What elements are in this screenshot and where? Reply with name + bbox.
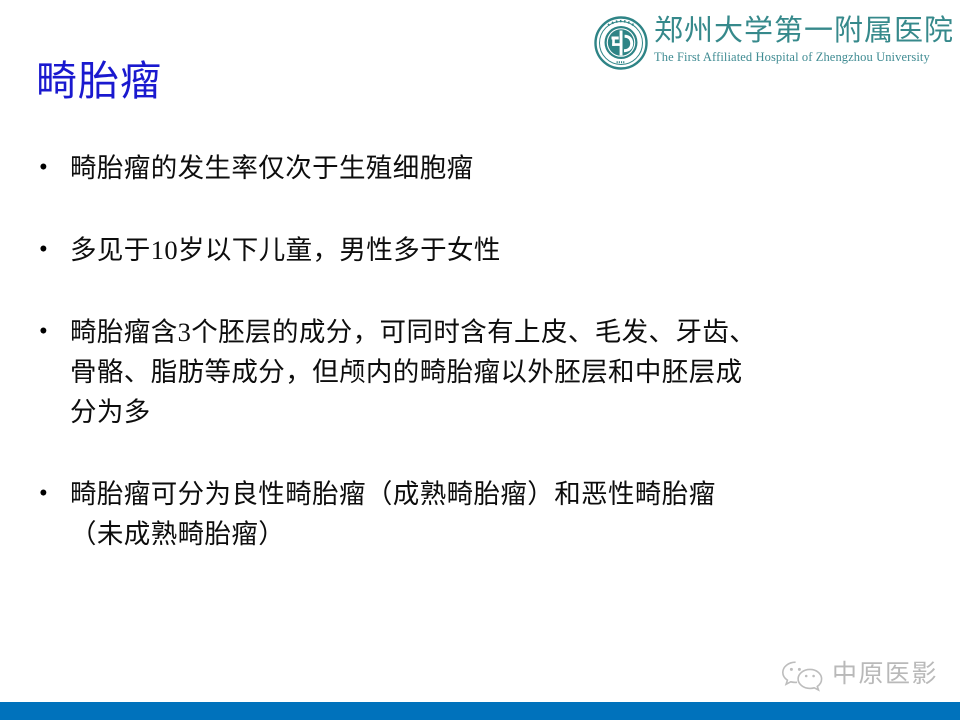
list-item: • 多见于10岁以下儿童，男性多于女性 <box>30 230 920 270</box>
list-item: • 畸胎瘤含3个胚层的成分，可同时含有上皮、毛发、牙齿、 骨骼、脂肪等成分，但颅… <box>30 312 920 432</box>
hospital-name-cn: 郑州大学第一附属医院 <box>654 14 954 48</box>
list-item: • 畸胎瘤可分为良性畸胎瘤（成熟畸胎瘤）和恶性畸胎瘤 （未成熟畸胎瘤） <box>30 474 920 554</box>
list-item-text: 多见于10岁以下儿童，男性多于女性 <box>70 230 920 270</box>
watermark-label: 中原医影 <box>832 660 938 690</box>
wechat-icon <box>780 658 826 692</box>
footer-accent-bar <box>0 702 960 720</box>
hospital-name-en: The First Affiliated Hospital of Zhengzh… <box>654 49 930 65</box>
list-item-text: 畸胎瘤可分为良性畸胎瘤（成熟畸胎瘤）和恶性畸胎瘤 （未成熟畸胎瘤） <box>70 474 920 554</box>
page-title: 畸胎瘤 <box>36 57 162 105</box>
list-item: • 畸胎瘤的发生率仅次于生殖细胞瘤 <box>30 148 920 188</box>
bullet-list: • 畸胎瘤的发生率仅次于生殖细胞瘤 • 多见于10岁以下儿童，男性多于女性 • … <box>30 148 920 554</box>
watermark: 中原医影 <box>780 658 938 692</box>
presentation-slide: 郑州大学第一附属医院 The First Affiliated Hospital… <box>0 0 960 720</box>
hospital-brand: 郑州大学第一附属医院 The First Affiliated Hospital… <box>594 12 954 80</box>
list-item-text: 畸胎瘤含3个胚层的成分，可同时含有上皮、毛发、牙齿、 骨骼、脂肪等成分，但颅内的… <box>70 312 920 432</box>
list-item-text: 畸胎瘤的发生率仅次于生殖细胞瘤 <box>70 148 920 188</box>
hospital-seal-icon <box>594 16 648 70</box>
bullet-marker-icon: • <box>30 312 70 352</box>
bullet-marker-icon: • <box>30 148 70 188</box>
bullet-marker-icon: • <box>30 474 70 514</box>
hospital-name-block: 郑州大学第一附属医院 The First Affiliated Hospital… <box>654 14 954 65</box>
bullet-marker-icon: • <box>30 230 70 270</box>
